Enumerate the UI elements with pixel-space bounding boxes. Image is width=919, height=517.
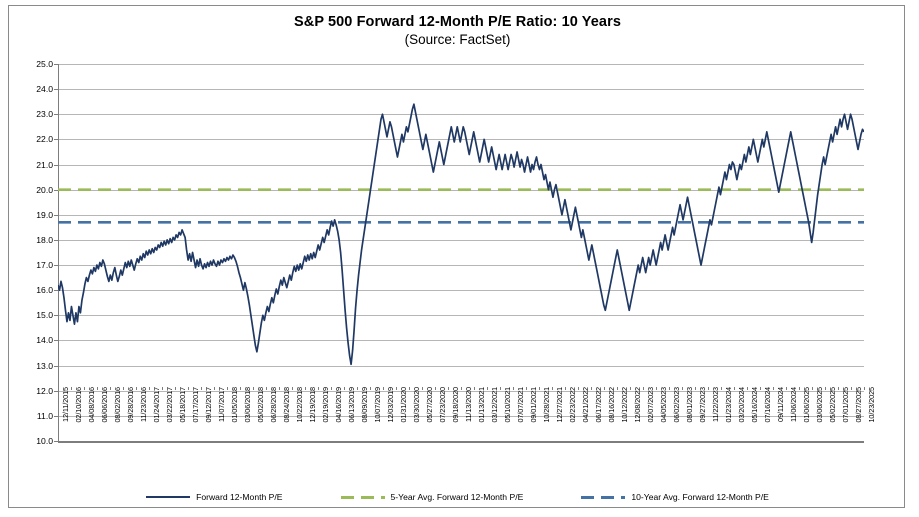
x-axis-tick-mark: [175, 387, 176, 390]
x-axis-tick-mark: [110, 387, 111, 390]
x-axis-tick-label: 04/05/2023: [659, 387, 668, 423]
y-axis-tick-label: 15.0: [14, 310, 58, 320]
x-axis-tick-mark: [149, 387, 150, 390]
data-series: [58, 104, 864, 364]
x-axis-tick-label: 07/07/2021: [516, 387, 525, 423]
x-axis-tick-label: 10/07/2019: [373, 387, 382, 423]
x-axis-tick-mark: [162, 387, 163, 390]
x-axis-tick-label: 01/23/2024: [724, 387, 733, 423]
x-axis-tick-label: 08/01/2023: [685, 387, 694, 423]
x-axis-tick-label: 02/07/2023: [646, 387, 655, 423]
x-axis-tick-mark: [201, 387, 202, 390]
legend-swatch-avg-5yr: [341, 492, 385, 502]
x-axis-tick-label: 01/13/2021: [477, 387, 486, 423]
x-axis-tick-label: 02/19/2019: [321, 387, 330, 423]
y-axis-tick-label: 20.0: [14, 185, 58, 195]
y-axis-tick-label: 21.0: [14, 160, 58, 170]
x-axis-tick-label: 07/23/2020: [438, 387, 447, 423]
x-axis-tick-label: 09/18/2020: [451, 387, 460, 423]
x-axis-tick-label: 12/11/2015: [61, 387, 70, 422]
y-axis-tick-label: 10.0: [14, 436, 58, 446]
x-axis-tick-label: 06/02/2023: [672, 387, 681, 423]
x-axis-tick-mark: [617, 387, 618, 390]
x-axis-tick-label: 12/08/2022: [633, 387, 642, 423]
x-axis-tick-label: 09/11/2024: [776, 387, 785, 422]
x-axis-tick-mark: [396, 387, 397, 390]
x-axis-tick-label: 06/06/2016: [100, 387, 109, 423]
x-axis-tick-label: 06/13/2019: [347, 387, 356, 423]
x-axis-tick-label: 07/16/2024: [763, 387, 772, 423]
x-axis-tick-mark: [474, 387, 475, 390]
x-axis-tick-label: 10/23/2025: [867, 387, 876, 423]
x-axis-tick-label: 11/06/2024: [789, 387, 798, 422]
y-axis-tick-label: 14.0: [14, 335, 58, 345]
legend-item-forward-pe[interactable]: Forward 12-Month P/E: [146, 492, 282, 502]
x-axis-tick-label: 02/23/2022: [568, 387, 577, 423]
x-axis-tick-label: 05/10/2021: [503, 387, 512, 423]
chart-frame: S&P 500 Forward 12-Month P/E Ratio: 10 Y…: [8, 5, 905, 508]
x-axis-tick-mark: [539, 387, 540, 390]
x-axis-tick-label: 11/07/2017: [217, 387, 226, 422]
x-axis-tick-mark: [487, 387, 488, 390]
x-axis-tick-mark: [825, 387, 826, 390]
chart-subtitle: (Source: FactSet): [9, 32, 906, 47]
x-axis-tick-mark: [71, 387, 72, 390]
x-axis-tick-label: 06/17/2022: [594, 387, 603, 423]
x-axis-tick-mark: [214, 387, 215, 390]
x-axis-tick-mark: [318, 387, 319, 390]
x-axis-tick-mark: [721, 387, 722, 390]
x-axis-tick-mark: [526, 387, 527, 390]
x-axis-tick-label: 05/02/2025: [828, 387, 837, 423]
x-axis-tick-mark: [799, 387, 800, 390]
x-axis-tick-label: 09/27/2023: [698, 387, 707, 423]
x-axis-tick-mark: [682, 387, 683, 390]
x-axis-tick-mark: [240, 387, 241, 390]
y-axis-tick-label: 18.0: [14, 235, 58, 245]
x-axis-tick-mark: [266, 387, 267, 390]
x-axis-tick-mark: [331, 387, 332, 390]
legend-label-avg-5yr: 5-Year Avg. Forward 12-Month P/E: [391, 492, 524, 502]
x-axis-tick-mark: [448, 387, 449, 390]
x-axis-tick-mark: [747, 387, 748, 390]
x-axis-tick-label: 10/28/2021: [542, 387, 551, 423]
x-axis-labels: 12/11/201502/10/201604/08/201606/06/2016…: [58, 387, 864, 443]
x-axis-tick-mark: [58, 387, 59, 390]
x-axis-tick-mark: [760, 387, 761, 390]
x-axis-tick-mark: [227, 387, 228, 390]
chart-legend: Forward 12-Month P/E5-Year Avg. Forward …: [9, 488, 906, 506]
legend-swatch-avg-10yr: [581, 492, 625, 502]
x-axis-tick-label: 03/06/2018: [243, 387, 252, 423]
x-axis-tick-label: 06/28/2018: [269, 387, 278, 423]
x-axis-tick-label: 09/12/2017: [204, 387, 213, 423]
y-axis-tick-label: 25.0: [14, 59, 58, 69]
x-axis-tick-mark: [786, 387, 787, 390]
x-axis-tick-mark: [97, 387, 98, 390]
x-axis-tick-mark: [669, 387, 670, 390]
x-axis-tick-mark: [292, 387, 293, 390]
y-axis-tick-label: 11.0: [14, 411, 58, 421]
y-axis-tick-label: 12.0: [14, 386, 58, 396]
x-axis-tick-label: 01/24/2017: [152, 387, 161, 423]
x-axis-tick-mark: [409, 387, 410, 390]
x-axis-tick-label: 12/03/2019: [386, 387, 395, 423]
plot-area: [58, 64, 864, 441]
y-axis-tick-label: 17.0: [14, 260, 58, 270]
x-axis-tick-mark: [435, 387, 436, 390]
x-axis-tick-label: 07/17/2017: [191, 387, 200, 423]
x-axis-tick-label: 03/12/2021: [490, 387, 499, 423]
x-axis-tick-label: 05/18/2017: [178, 387, 187, 423]
x-axis-tick-mark: [344, 387, 345, 390]
x-axis-tick-mark: [708, 387, 709, 390]
x-axis-tick-mark: [643, 387, 644, 390]
y-axis-tick-label: 13.0: [14, 361, 58, 371]
x-axis-tick-label: 01/06/2025: [802, 387, 811, 423]
x-axis-tick-mark: [812, 387, 813, 390]
x-axis-tick-label: 01/31/2020: [399, 387, 408, 423]
x-axis-tick-mark: [838, 387, 839, 390]
x-axis-tick-mark: [604, 387, 605, 390]
legend-item-avg-5yr[interactable]: 5-Year Avg. Forward 12-Month P/E: [341, 492, 524, 502]
x-axis-tick-mark: [552, 387, 553, 390]
x-axis-tick-mark: [279, 387, 280, 390]
legend-item-avg-10yr[interactable]: 10-Year Avg. Forward 12-Month P/E: [581, 492, 769, 502]
x-axis-tick-label: 05/27/2020: [425, 387, 434, 423]
x-axis-tick-label: 04/08/2016: [87, 387, 96, 423]
x-axis-tick-mark: [383, 387, 384, 390]
x-axis-tick-mark: [461, 387, 462, 390]
y-axis-tick-label: 22.0: [14, 134, 58, 144]
x-axis-tick-mark: [864, 387, 865, 390]
x-axis-tick-mark: [565, 387, 566, 390]
x-axis-tick-label: 04/21/2022: [581, 387, 590, 423]
legend-swatch-forward-pe: [146, 492, 190, 502]
x-axis-tick-mark: [84, 387, 85, 390]
x-axis-tick-label: 10/12/2022: [620, 387, 629, 423]
x-axis-tick-label: 07/01/2025: [841, 387, 850, 423]
y-axis-tick-label: 24.0: [14, 84, 58, 94]
legend-label-avg-10yr: 10-Year Avg. Forward 12-Month P/E: [631, 492, 769, 502]
x-axis-tick-mark: [591, 387, 592, 390]
x-axis-tick-mark: [734, 387, 735, 390]
reference-lines: [58, 190, 864, 223]
page-title: S&P 500 Forward 12-Month P/E Ratio: 10 Y…: [9, 14, 906, 30]
x-axis-tick-label: 05/02/2018: [256, 387, 265, 423]
x-axis-tick-label: 12/27/2021: [555, 387, 564, 423]
x-axis-tick-label: 03/22/2017: [165, 387, 174, 423]
x-axis-tick-label: 11/13/2020: [464, 387, 473, 422]
x-axis-tick-mark: [123, 387, 124, 390]
x-axis-tick-mark: [188, 387, 189, 390]
x-axis-tick-mark: [253, 387, 254, 390]
x-axis-tick-mark: [630, 387, 631, 390]
x-axis-tick-label: 02/10/2016: [74, 387, 83, 423]
x-axis-tick-mark: [357, 387, 358, 390]
x-axis-tick-mark: [305, 387, 306, 390]
title-block: S&P 500 Forward 12-Month P/E Ratio: 10 Y…: [9, 14, 906, 47]
x-axis-tick-label: 08/24/2018: [282, 387, 291, 423]
x-axis-tick-label: 04/16/2019: [334, 387, 343, 423]
x-axis-tick-mark: [773, 387, 774, 390]
x-axis-tick-mark: [136, 387, 137, 390]
x-axis-tick-label: 08/16/2022: [607, 387, 616, 423]
series-line-forward-pe: [58, 104, 864, 364]
x-axis-tick-label: 03/20/2024: [737, 387, 746, 423]
x-axis-tick-label: 09/01/2021: [529, 387, 538, 423]
x-axis-tick-label: 09/28/2016: [126, 387, 135, 423]
x-axis-tick-mark: [422, 387, 423, 390]
x-axis-tick-label: 05/16/2024: [750, 387, 759, 423]
x-axis-tick-mark: [500, 387, 501, 390]
x-axis-tick-label: 10/22/2018: [295, 387, 304, 423]
x-axis-tick-mark: [851, 387, 852, 390]
x-axis-tick-label: 01/05/2018: [230, 387, 239, 423]
legend-label-forward-pe: Forward 12-Month P/E: [196, 492, 282, 502]
x-axis-tick-mark: [656, 387, 657, 390]
x-axis-tick-label: 11/23/2016: [139, 387, 148, 422]
plot-wrap: 25.024.023.022.021.020.019.018.017.016.0…: [58, 64, 864, 441]
x-axis-tick-mark: [370, 387, 371, 390]
x-axis-tick-mark: [513, 387, 514, 390]
x-axis-tick-mark: [695, 387, 696, 390]
x-axis-tick-label: 03/30/2020: [412, 387, 421, 423]
x-axis-tick-mark: [578, 387, 579, 390]
y-axis-tick-label: 16.0: [14, 285, 58, 295]
x-axis-tick-label: 08/27/2025: [854, 387, 863, 423]
x-axis-tick-label: 11/22/2023: [711, 387, 720, 422]
x-axis-tick-label: 12/19/2018: [308, 387, 317, 423]
x-axis-tick-label: 08/02/2016: [113, 387, 122, 423]
y-axis-tick-label: 23.0: [14, 109, 58, 119]
y-axis-tick-label: 19.0: [14, 210, 58, 220]
x-axis-tick-label: 08/09/2019: [360, 387, 369, 423]
x-axis-tick-label: 03/06/2025: [815, 387, 824, 423]
